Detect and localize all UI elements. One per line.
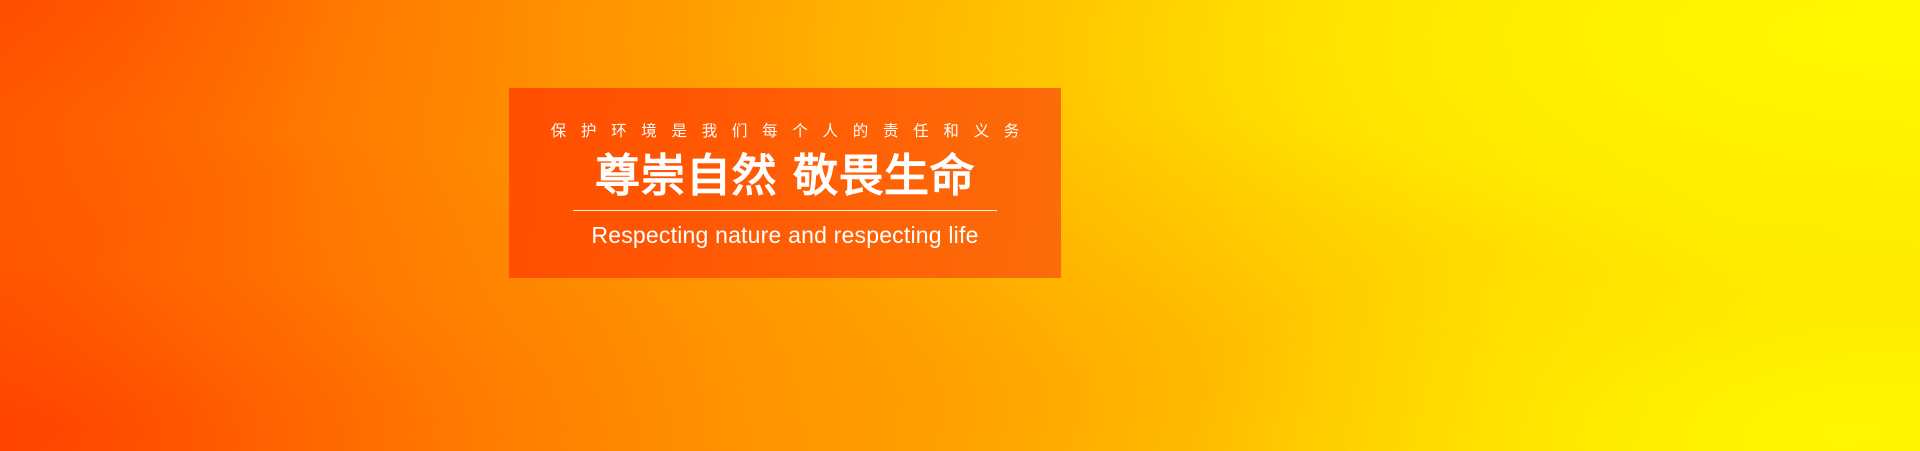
slogan-panel-content: 保 护 环 境 是 我 们 每 个 人 的 责 任 和 义 务 尊崇自然敬畏生命… <box>509 88 1061 248</box>
slogan-divider-line <box>573 210 997 211</box>
slogan-headline: 尊崇自然敬畏生命 <box>595 152 975 201</box>
environment-slogan-banner: 保 护 环 境 是 我 们 每 个 人 的 责 任 和 义 务 尊崇自然敬畏生命… <box>0 0 1920 451</box>
slogan-eyebrow-text: 保 护 环 境 是 我 们 每 个 人 的 责 任 和 义 务 <box>546 124 1025 140</box>
slogan-english-subtitle: Respecting nature and respecting life <box>591 223 978 248</box>
slogan-headline-part-1: 尊崇自然 <box>595 150 777 201</box>
slogan-panel: 保 护 环 境 是 我 们 每 个 人 的 责 任 和 义 务 尊崇自然敬畏生命… <box>509 88 1061 278</box>
slogan-headline-part-2: 敬畏生命 <box>793 150 975 201</box>
